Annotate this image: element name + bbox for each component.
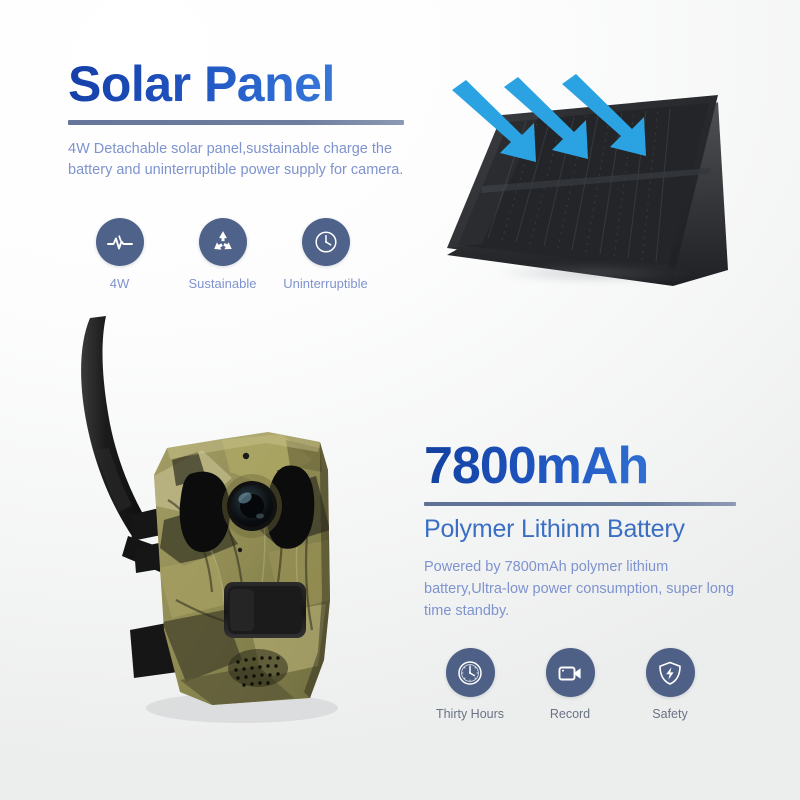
feature-item-record: Record (520, 648, 620, 721)
trail-camera-photo (72, 300, 402, 750)
feature-item-safety: Safety (620, 648, 720, 721)
feature-item-uninterruptible: Uninterruptible (274, 218, 377, 291)
battery-title-divider (424, 502, 736, 506)
pulse-icon (96, 218, 144, 266)
speaker-grille (228, 649, 288, 687)
feature-label: Sustainable (189, 276, 257, 291)
clock-icon (446, 648, 495, 697)
feature-label: Uninterruptible (283, 276, 368, 291)
recycle-icon (199, 218, 247, 266)
clock-icon (302, 218, 350, 266)
light-sensor (243, 453, 249, 459)
solar-title-divider (68, 120, 404, 125)
pir-sensor (224, 582, 306, 638)
solar-feature-list: 4W Sustainable (68, 218, 418, 291)
camera-body (154, 432, 330, 706)
feature-item-4w: 4W (68, 218, 171, 291)
feature-label: Record (550, 707, 590, 721)
feature-item-sustainable: Sustainable (171, 218, 274, 291)
solar-panel-text-block: Solar Panel 4W Detachable solar panel,su… (68, 58, 428, 182)
battery-capacity-title: 7800mAh (424, 440, 784, 493)
feature-label: Safety (652, 707, 687, 721)
feature-label: Thirty Hours (436, 707, 504, 721)
solar-panel-photo (430, 62, 780, 302)
battery-feature-list: Thirty Hours Record Safety (420, 648, 720, 721)
battery-subtitle: Polymer Lithinm Battery (424, 515, 784, 544)
status-led (238, 548, 242, 552)
feature-item-thirty-hours: Thirty Hours (420, 648, 520, 721)
panel-drop-shadow (455, 258, 735, 288)
solar-panel-title: Solar Panel (68, 58, 428, 110)
battery-text-block: 7800mAh Polymer Lithinm Battery Powered … (424, 440, 784, 622)
solar-panel-description: 4W Detachable solar panel,sustainable ch… (68, 139, 420, 182)
lens (222, 474, 282, 538)
product-feature-page: Solar Panel 4W Detachable solar panel,su… (0, 0, 800, 800)
trail-camera-illustration (72, 300, 402, 750)
battery-description: Powered by 7800mAh polymer lithium batte… (424, 557, 744, 622)
feature-label: 4W (110, 276, 130, 291)
shield-bolt-icon (646, 648, 695, 697)
video-camera-icon (546, 648, 595, 697)
